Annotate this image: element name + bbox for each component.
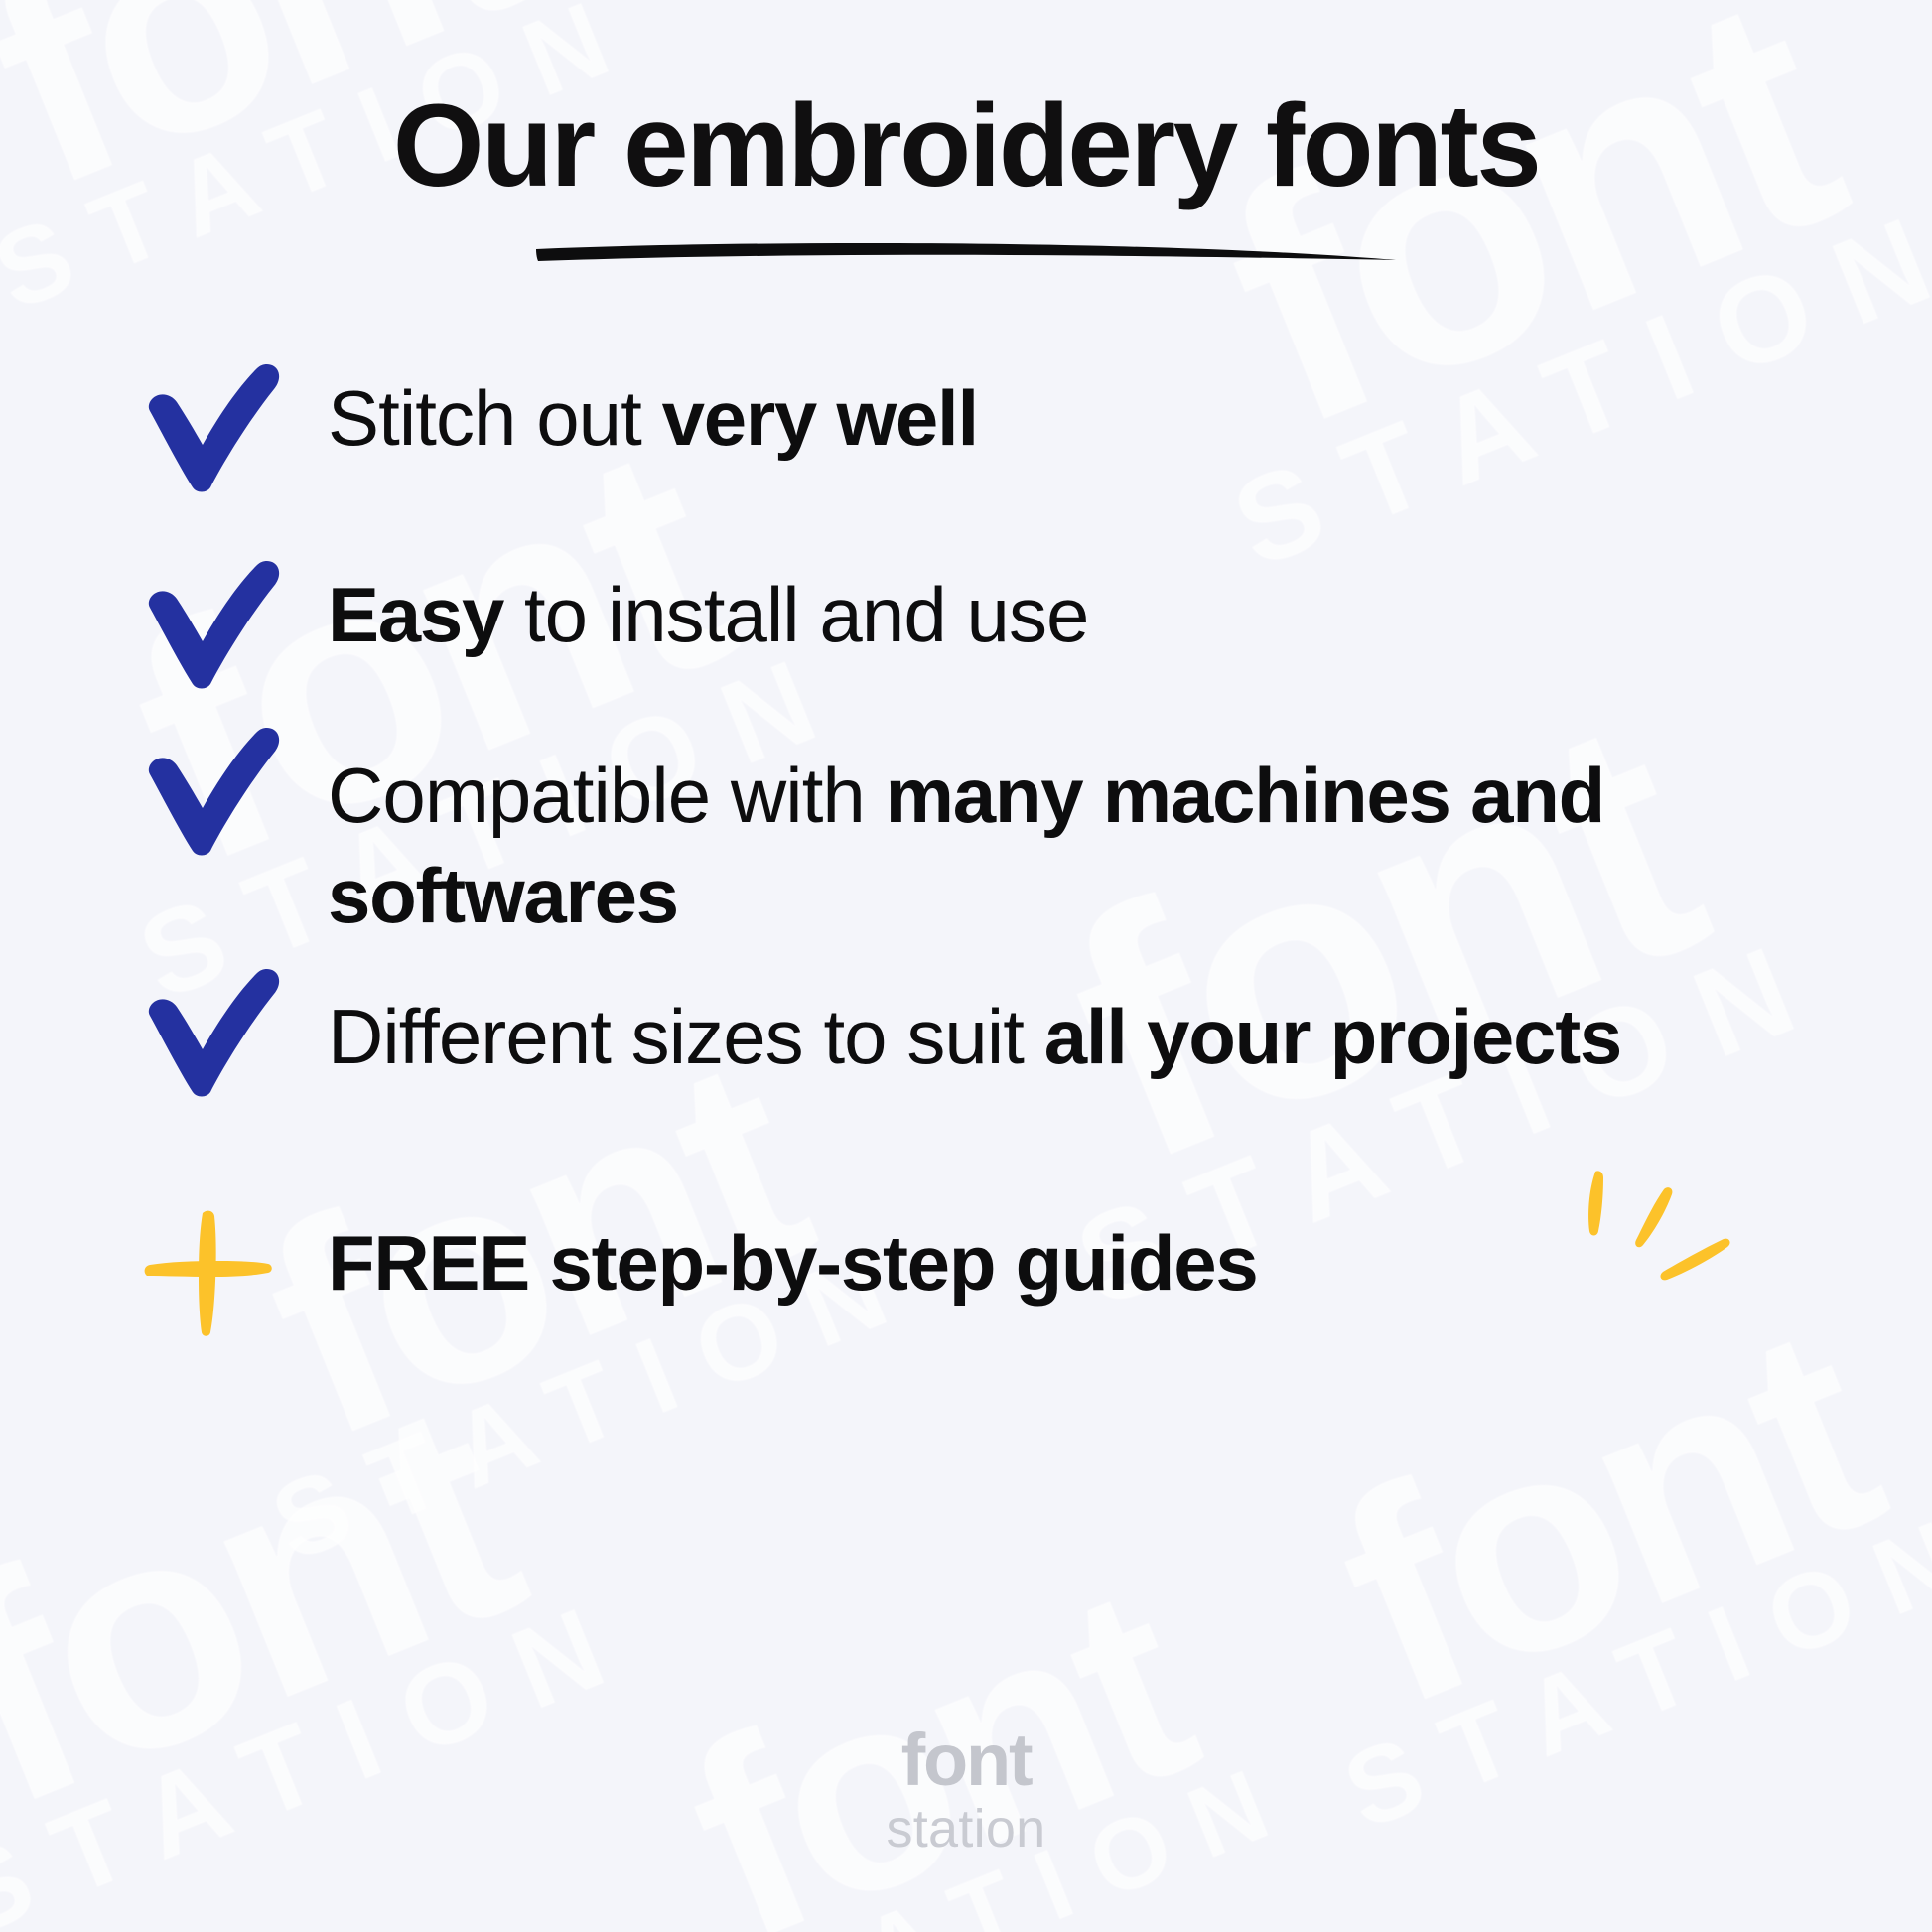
- list-item-label: Different sizes to suit all your project…: [328, 981, 1813, 1087]
- list-item: Compatible with many machines and softwa…: [119, 740, 1813, 947]
- brand-logo: font station: [0, 1724, 1932, 1859]
- page-title: Our embroidery fonts: [119, 85, 1813, 207]
- list-item: Stitch out very well: [119, 362, 1813, 493]
- blue-brush-check-icon: [119, 362, 328, 493]
- text-segment-bold: Easy: [328, 571, 503, 658]
- text-segment: Compatible with: [328, 752, 886, 839]
- list-item: Different sizes to suit all your project…: [119, 981, 1813, 1112]
- blue-brush-check-icon: [119, 559, 328, 690]
- list-item: Easy to install and use: [119, 559, 1813, 690]
- list-item-label: Compatible with many machines and softwa…: [328, 740, 1813, 947]
- brush-underline-icon: [534, 241, 1398, 267]
- list-item-label: Stitch out very well: [328, 362, 1813, 469]
- list-item-label: FREE step-by-step guides: [328, 1207, 1813, 1313]
- text-segment-bold: all your projects: [1044, 993, 1621, 1080]
- feature-list: Stitch out very well Easy to install and…: [119, 362, 1813, 1338]
- yellow-brush-plus-icon: [119, 1207, 328, 1338]
- list-item: FREE step-by-step guides: [119, 1207, 1813, 1338]
- blue-brush-check-icon: [119, 981, 328, 1112]
- poster-canvas: Our embroidery fonts Stitch out very wel…: [0, 0, 1932, 1932]
- list-item-label: Easy to install and use: [328, 559, 1813, 665]
- text-segment-bold: very well: [662, 374, 978, 462]
- text-segment: Stitch out: [328, 374, 662, 462]
- brand-logo-secondary: station: [0, 1799, 1932, 1859]
- text-segment: to install and use: [503, 571, 1088, 658]
- text-segment: Different sizes to suit: [328, 993, 1044, 1080]
- title-block: Our embroidery fonts: [119, 85, 1813, 267]
- text-segment-bold: FREE step-by-step guides: [328, 1219, 1258, 1307]
- blue-brush-check-icon: [119, 740, 328, 871]
- brand-logo-primary: font: [0, 1724, 1932, 1797]
